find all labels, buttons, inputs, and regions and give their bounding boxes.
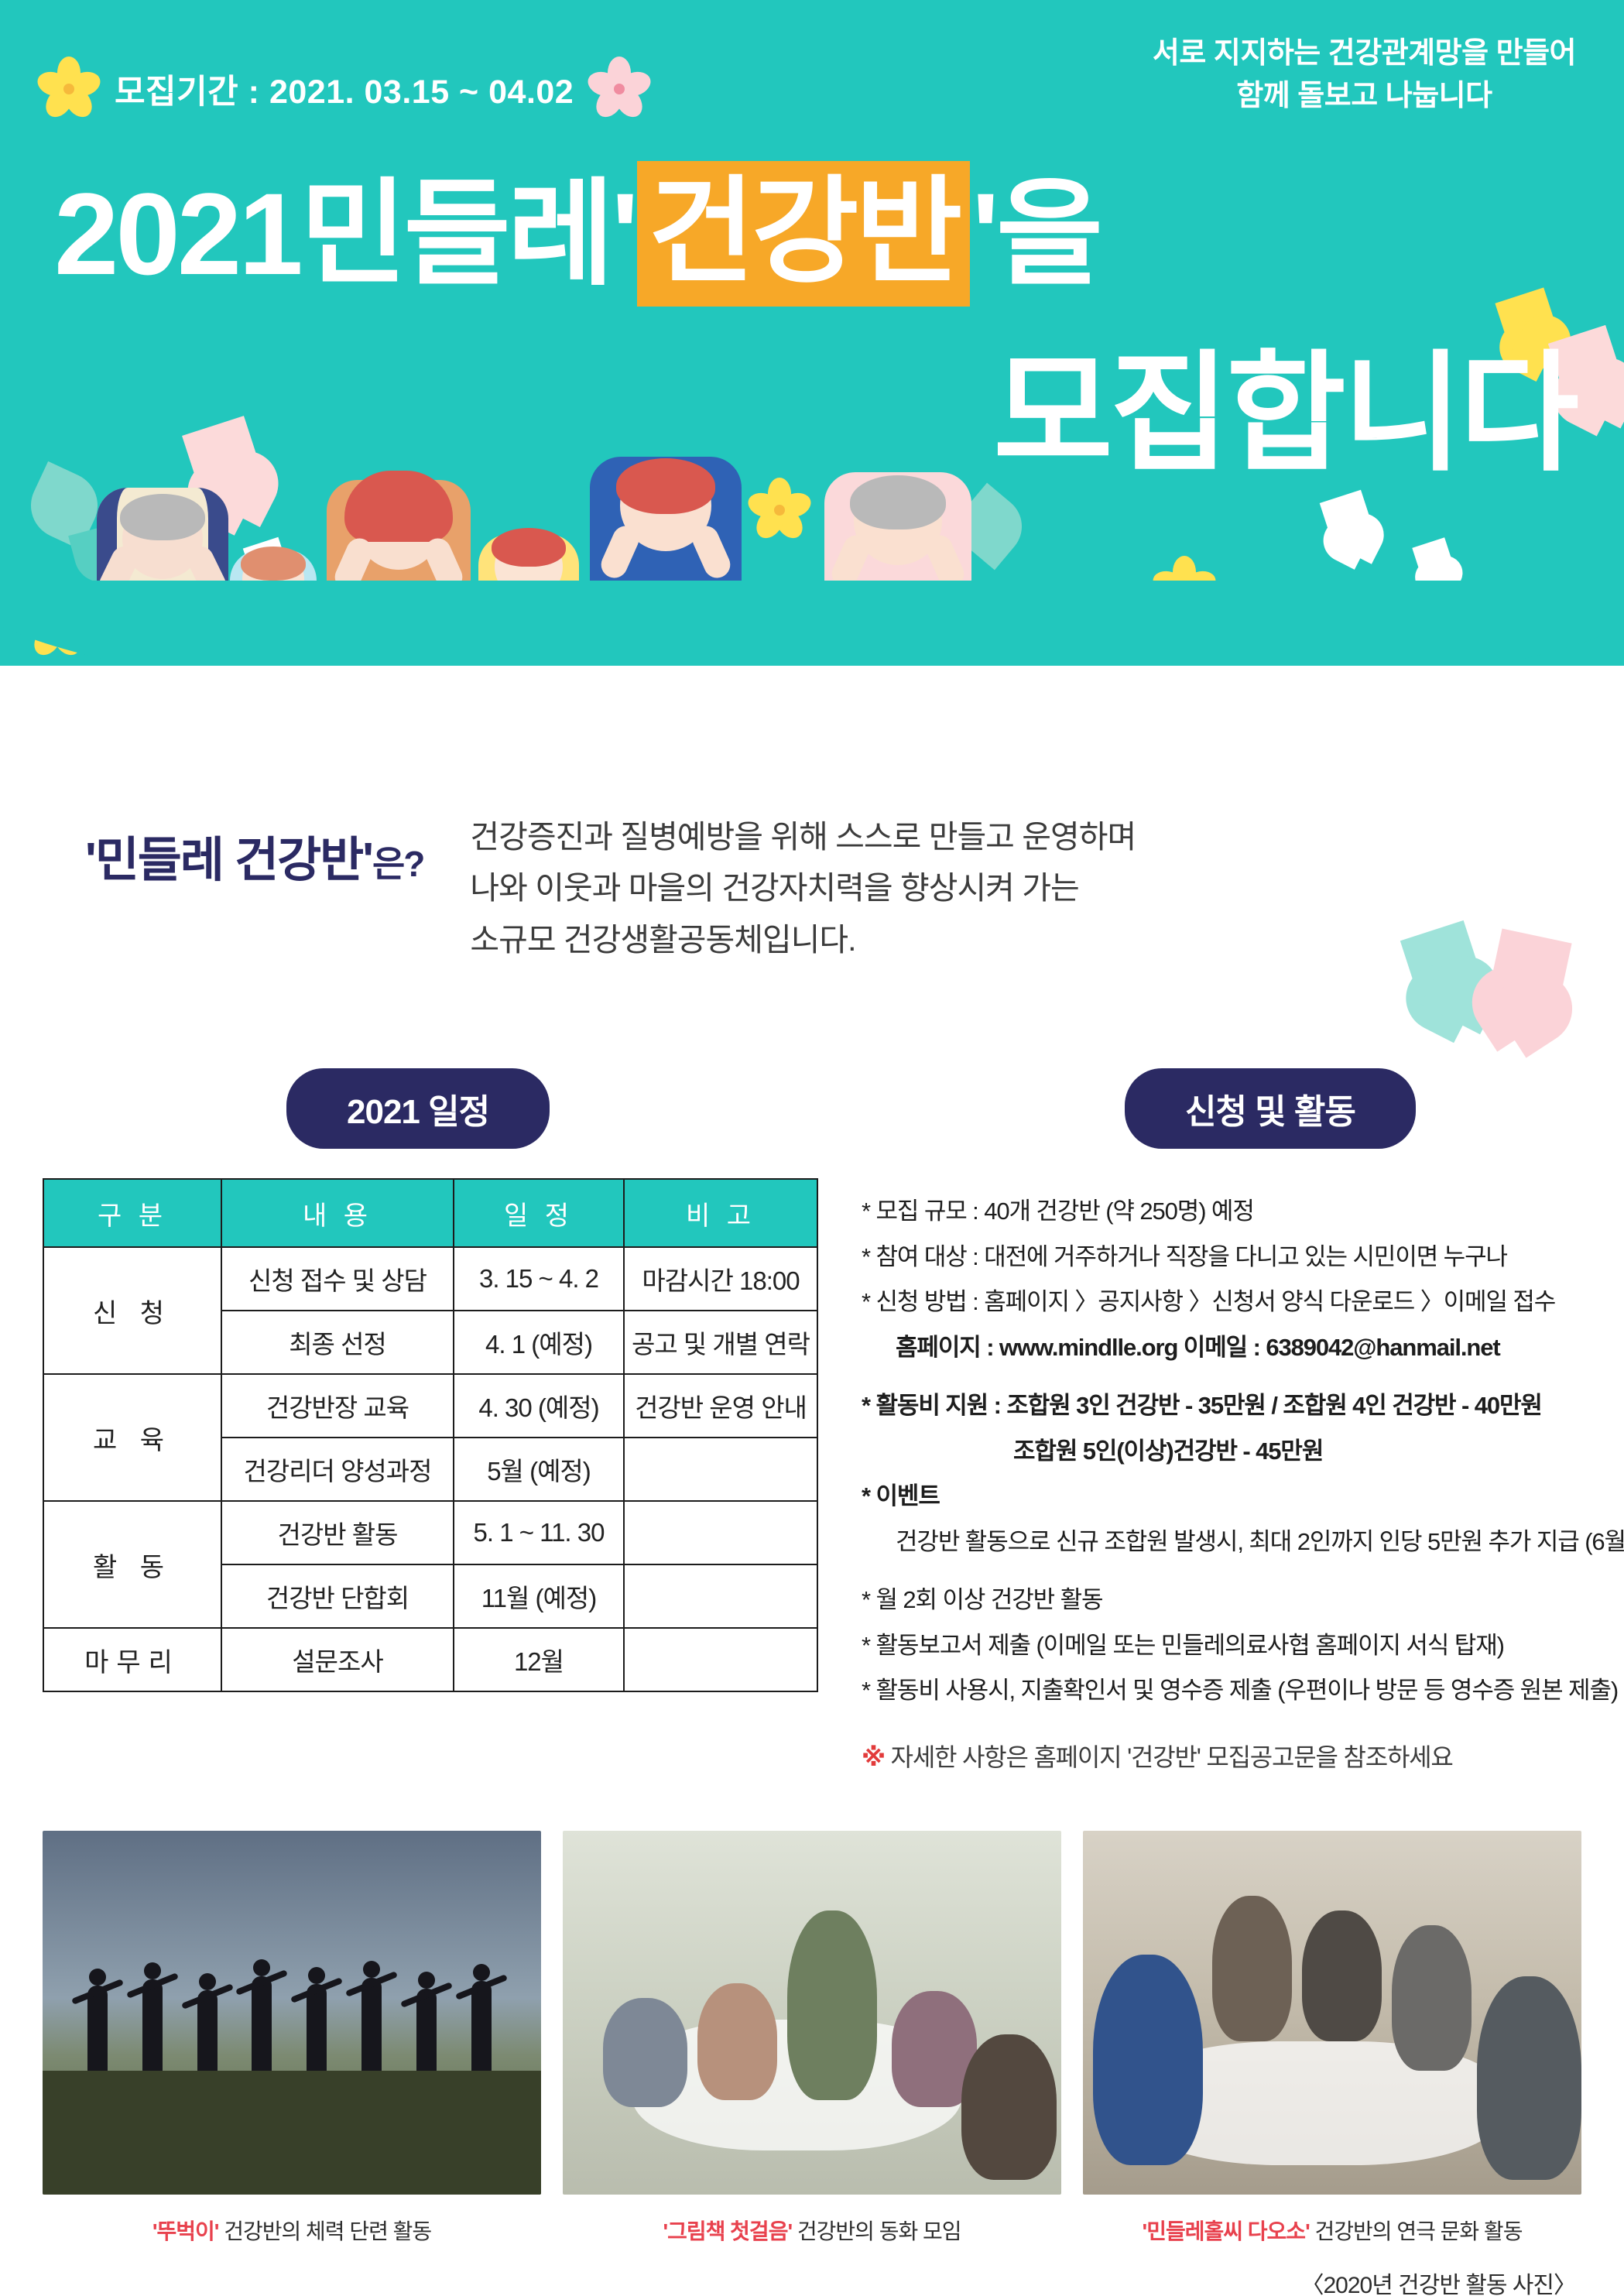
intro-paragraph-line1: 건강증진과 질병예방을 위해 스스로 만들고 운영하며 [470, 811, 1136, 862]
table-row: 신 청 신청 접수 및 상담 3. 15 ~ 4. 2 마감시간 18:00 [43, 1247, 817, 1311]
cell-content: 최종 선정 [221, 1311, 454, 1374]
info-contact: 홈페이지 : www.mindlle.org 이메일 : 6389042@han… [862, 1331, 1581, 1364]
th-category: 구 분 [43, 1179, 221, 1247]
person-hair [344, 471, 453, 542]
schedule-table-body: 신 청 신청 접수 및 상담 3. 15 ~ 4. 2 마감시간 18:00 최… [43, 1247, 817, 1691]
person-hair [850, 475, 946, 529]
heart-decor [1400, 920, 1484, 1004]
cell-note [624, 1628, 817, 1691]
seated-person [697, 1983, 777, 2099]
table-row: 교 육 건강반장 교육 4. 30 (예정) 건강반 운영 안내 [43, 1374, 817, 1438]
seated-person [603, 1998, 687, 2107]
info-funding-1: * 활동비 지원 : 조합원 3인 건강반 - 35만원 / 조합원 4인 건강… [862, 1390, 1581, 1422]
heart-decor [1320, 490, 1375, 545]
person-hair [492, 528, 566, 567]
photo-caption-rest: 건강반의 동화 모임 [792, 2219, 961, 2243]
title-highlight: 건강반 [637, 161, 970, 307]
info-event-body: 건강반 활동으로 신규 조합원 발생시, 최대 2인까지 인당 5만원 추가 지… [862, 1526, 1581, 1558]
content-columns: 구 분 내 용 일 정 비 고 신 청 신청 접수 및 상담 3. 15 ~ 4… [0, 1178, 1624, 1787]
poster-title-line1: 2021민들레'건강반'을 [54, 161, 1100, 307]
photo-caption-rest: 건강반의 연극 문화 활동 [1310, 2219, 1523, 2243]
info-report: * 활동보고서 제출 (이메일 또는 민들레의료사협 홈페이지 서식 탑재) [862, 1629, 1581, 1662]
table-header-row: 구 분 내 용 일 정 비 고 [43, 1179, 817, 1247]
recruitment-period: 모집기간 : 2021. 03.15 ~ 04.02 [40, 60, 648, 118]
silhouette [197, 1990, 218, 2071]
cell-date: 11월 (예정) [454, 1564, 624, 1628]
seated-person [1093, 1955, 1203, 2166]
cell-note: 마감시간 18:00 [624, 1247, 817, 1311]
info-receipt: * 활동비 사용시, 지출확인서 및 영수증 제출 (우편이나 방문 등 영수증… [862, 1674, 1581, 1707]
schedule-table-head: 구 분 내 용 일 정 비 고 [43, 1179, 817, 1247]
heart-decor [1487, 928, 1571, 1013]
cell-category: 신 청 [43, 1247, 221, 1374]
cell-date: 3. 15 ~ 4. 2 [454, 1247, 624, 1311]
intro-question-suffix: 은? [372, 844, 423, 884]
title-part2: '을 [971, 176, 1100, 292]
intro-paragraph: 건강증진과 질병예방을 위해 스스로 만들고 운영하며 나와 이웃과 마을의 건… [470, 797, 1136, 965]
cell-note [624, 1564, 817, 1628]
seated-person [1302, 1910, 1382, 2041]
silhouette [471, 1981, 492, 2071]
poster-title-line2: 모집합니다 [993, 348, 1576, 478]
heart-decor [1412, 537, 1454, 580]
cell-category: 마무리 [43, 1628, 221, 1691]
info-method: * 신청 방법 : 홈페이지 〉공지사항 〉신청서 양식 다운로드 〉이메일 접… [862, 1286, 1581, 1318]
intro-question-main: '민들레 건강반' [85, 834, 372, 887]
seated-person [1212, 1896, 1292, 2041]
flower-pink-icon [591, 60, 648, 118]
info-frequency: * 월 2회 이상 건강반 활동 [862, 1584, 1581, 1616]
photo-caption: '뚜벅이' 건강반의 체력 단련 활동 [43, 2215, 541, 2246]
badge-apply: 신청 및 활동 [1125, 1068, 1416, 1149]
recruitment-period-label: 모집기간 : 2021. 03.15 ~ 04.02 [115, 65, 574, 113]
photo-card: '뚜벅이' 건강반의 체력 단련 활동 [43, 1831, 541, 2246]
th-date: 일 정 [454, 1179, 624, 1247]
poster-root: 모집기간 : 2021. 03.15 ~ 04.02 서로 지지하는 건강관계망… [0, 0, 1624, 2296]
info-funding-2: 조합원 5인(이상)건강반 - 45만원 [862, 1435, 1581, 1468]
person-hair [241, 547, 306, 581]
hero-banner: 모집기간 : 2021. 03.15 ~ 04.02 서로 지지하는 건강관계망… [0, 0, 1624, 666]
apply-column: * 모집 규모 : 40개 건강반 (약 250명) 예정 * 참여 대상 : … [862, 1178, 1581, 1787]
photo-caption-name: '그림책 첫걸음' [663, 2219, 792, 2243]
apply-info-list: * 모집 규모 : 40개 건강반 (약 250명) 예정 * 참여 대상 : … [862, 1195, 1581, 1774]
table-row: 마무리 설문조사 12월 [43, 1628, 817, 1691]
silhouette [87, 1986, 108, 2071]
photo-image-theater [1083, 1831, 1581, 2195]
person-hair [616, 458, 715, 514]
intro-question: '민들레 건강반'은? [85, 797, 423, 890]
cell-category: 활 동 [43, 1501, 221, 1628]
silhouette [361, 1978, 382, 2071]
photo-caption: '그림책 첫걸음' 건강반의 동화 모임 [563, 2215, 1061, 2246]
silhouette [252, 1976, 272, 2071]
cell-date: 5. 1 ~ 11. 30 [454, 1501, 624, 1564]
th-note: 비 고 [624, 1179, 817, 1247]
info-target: * 참여 대상 : 대전에 거주하거나 직장을 다니고 있는 시민이면 누구나 [862, 1241, 1581, 1273]
photo-ground [43, 2071, 541, 2195]
photo-image-hiking [43, 1831, 541, 2195]
cell-note [624, 1501, 817, 1564]
photo-card: '민들레홀씨 다오소' 건강반의 연극 문화 활동 [1083, 1831, 1581, 2246]
intro-paragraph-line3: 소규모 건강생활공동체입니다. [470, 914, 1136, 965]
schedule-table: 구 분 내 용 일 정 비 고 신 청 신청 접수 및 상담 3. 15 ~ 4… [43, 1178, 818, 1692]
poster-body: '민들레 건강반'은? 건강증진과 질병예방을 위해 스스로 만들고 운영하며 … [0, 666, 1624, 2296]
cell-content: 건강반 단합회 [221, 1564, 454, 1628]
info-footnote-text: 자세한 사항은 홈페이지 '건강반' 모집공고문을 참조하세요 [891, 1743, 1453, 1771]
intro-paragraph-line2: 나와 이웃과 마을의 건강자치력을 향상시켜 가는 [470, 862, 1136, 913]
person-hair [120, 494, 205, 540]
seated-person [1392, 1925, 1472, 2071]
info-event-title: * 이벤트 [862, 1480, 1581, 1513]
cell-date: 12월 [454, 1628, 624, 1691]
asterisk-icon: ※ [862, 1743, 885, 1771]
cell-content: 건강반장 교육 [221, 1374, 454, 1438]
hero-tagline: 서로 지지하는 건강관계망을 만들어 함께 돌보고 나눕니다 [1153, 33, 1576, 118]
hero-tagline-line2: 함께 돌보고 나눕니다 [1153, 75, 1576, 118]
intro-section: '민들레 건강반'은? 건강증진과 질병예방을 위해 스스로 만들고 운영하며 … [0, 797, 1624, 975]
seated-person [1477, 1976, 1581, 2180]
hero-tagline-line1: 서로 지지하는 건강관계망을 만들어 [1153, 33, 1576, 75]
badge-schedule: 2021 일정 [286, 1068, 550, 1149]
photo-caption-name: '민들레홀씨 다오소' [1143, 2219, 1310, 2243]
cell-content: 건강반 활동 [221, 1501, 454, 1564]
th-content: 내 용 [221, 1179, 454, 1247]
seated-person [961, 2034, 1056, 2180]
info-scale: * 모집 규모 : 40개 건강반 (약 250명) 예정 [862, 1195, 1581, 1228]
section-badges: 2021 일정 신청 및 활동 [0, 1068, 1624, 1146]
silhouette [142, 1979, 163, 2071]
photo-card: '그림책 첫걸음' 건강반의 동화 모임 [563, 1831, 1061, 2246]
schedule-column: 구 분 내 용 일 정 비 고 신 청 신청 접수 및 상담 3. 15 ~ 4… [43, 1178, 818, 1787]
silhouette [416, 1989, 437, 2071]
cell-content: 건강리더 양성과정 [221, 1438, 454, 1501]
cell-date: 4. 1 (예정) [454, 1311, 624, 1374]
cell-content: 신청 접수 및 상담 [221, 1247, 454, 1311]
cell-note: 건강반 운영 안내 [624, 1374, 817, 1438]
cell-category: 교 육 [43, 1374, 221, 1501]
photo-gallery-note: 〈2020년 건강반 활동 사진〉 [0, 2266, 1624, 2296]
photo-gallery: '뚜벅이' 건강반의 체력 단련 활동 '그림책 첫걸음' 건강반의 동화 모임 [0, 1831, 1624, 2246]
photo-caption: '민들레홀씨 다오소' 건강반의 연극 문화 활동 [1083, 2215, 1581, 2246]
title-part1: 2021민들레' [54, 176, 636, 292]
flower-yellow-icon [40, 60, 98, 118]
cell-note [624, 1438, 817, 1501]
photo-caption-name: '뚜벅이' [152, 2219, 219, 2243]
info-footnote: ※ 자세한 사항은 홈페이지 '건강반' 모집공고문을 참조하세요 [862, 1741, 1581, 1774]
table-row: 활 동 건강반 활동 5. 1 ~ 11. 30 [43, 1501, 817, 1564]
cell-date: 5월 (예정) [454, 1438, 624, 1501]
photo-caption-rest: 건강반의 체력 단련 활동 [218, 2219, 431, 2243]
hero-bottom-curve [0, 581, 1624, 666]
seated-person [787, 1910, 877, 2099]
silhouette [307, 1984, 327, 2071]
cell-note: 공고 및 개별 연락 [624, 1311, 817, 1374]
photo-image-bookclub [563, 1831, 1061, 2195]
cell-date: 4. 30 (예정) [454, 1374, 624, 1438]
cell-content: 설문조사 [221, 1628, 454, 1691]
